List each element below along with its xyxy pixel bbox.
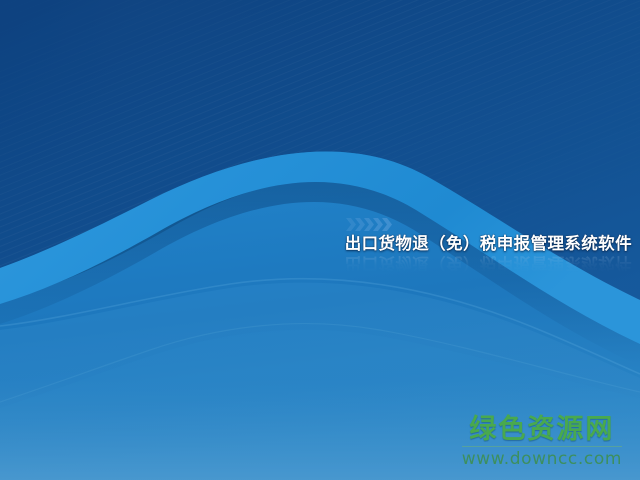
watermark: 绿色资源网 www.downcc.com — [462, 416, 622, 468]
watermark-site-name: 绿色资源网 — [462, 416, 622, 443]
splash-screen: 出口货物退（免）税申报管理系统软件 出口货物退（免）税申报管理系统软件 绿色资源… — [0, 0, 640, 480]
title-block: 出口货物退（免）税申报管理系统软件 出口货物退（免）税申报管理系统软件 — [342, 218, 632, 293]
chevron-arrows-group — [342, 218, 632, 231]
page-title-reflection: 出口货物退（免）税申报管理系统软件 — [342, 253, 632, 273]
watermark-url: www.downcc.com — [462, 451, 622, 468]
chevron-right-icon — [346, 218, 398, 231]
watermark-divider — [462, 446, 622, 447]
page-title: 出口货物退（免）税申报管理系统软件 — [342, 234, 632, 254]
